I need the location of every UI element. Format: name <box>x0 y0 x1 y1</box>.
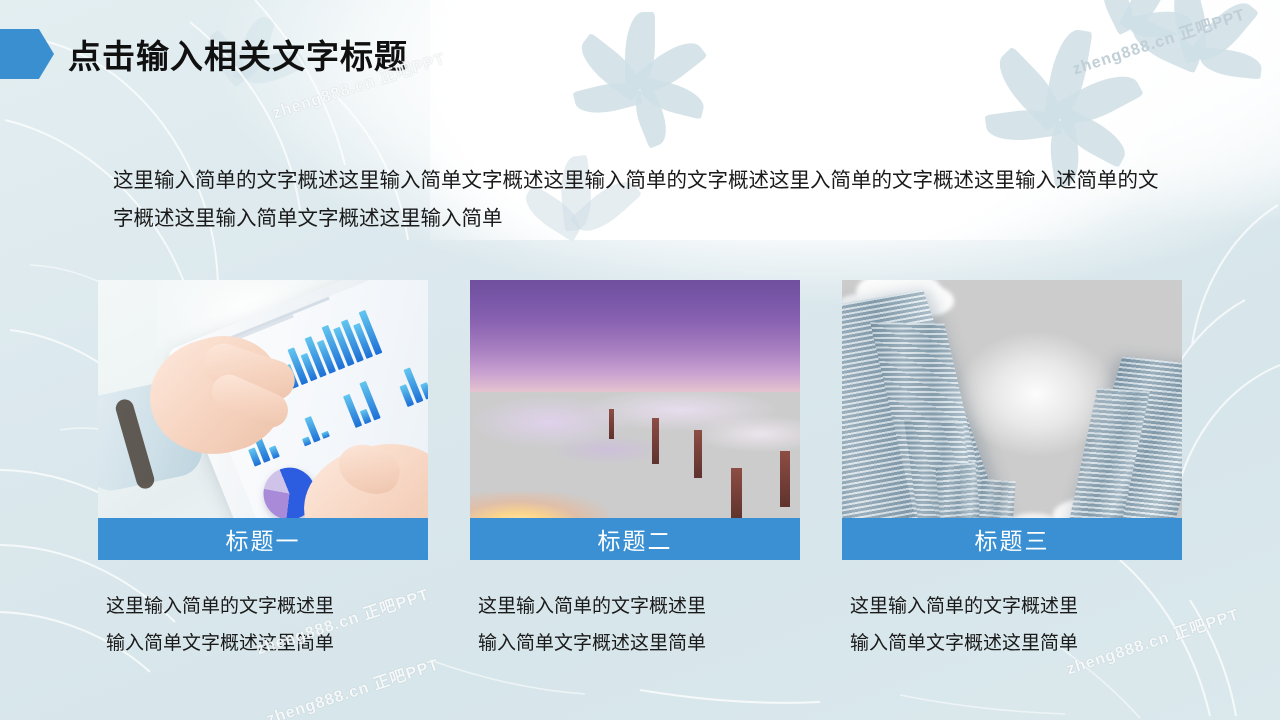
card-caption-line: 这里输入简单的文字概述里 <box>850 588 1182 625</box>
card-image-pier <box>470 280 800 518</box>
card-caption-line: 这里输入简单的文字概述里 <box>106 588 428 625</box>
card-caption-line: 这里输入简单的文字概述里 <box>478 588 800 625</box>
content-card[interactable]: 标题三 这里输入简单的文字概述里 输入简单文字概述这里简单 <box>842 280 1182 662</box>
presentation-slide: 点击输入相关文字标题 这里输入简单的文字概述这里输入简单文字概述这里输入简单的文… <box>0 0 1280 720</box>
card-title: 标题一 <box>98 518 428 560</box>
page-title: 点击输入相关文字标题 <box>68 30 408 78</box>
card-caption-line: 输入简单文字概述这里简单 <box>850 625 1182 662</box>
card-title: 标题三 <box>842 518 1182 560</box>
card-caption: 这里输入简单的文字概述里 输入简单文字概述这里简单 <box>470 588 800 662</box>
chevron-accent-icon <box>0 29 54 79</box>
card-caption: 这里输入简单的文字概述里 输入简单文字概述这里简单 <box>842 588 1182 662</box>
card-row: 标题一 这里输入简单的文字概述里 输入简单文字概述这里简单 <box>98 280 1182 662</box>
content-card[interactable]: 标题一 这里输入简单的文字概述里 输入简单文字概述这里简单 <box>98 280 428 662</box>
card-caption-line: 输入简单文字概述这里简单 <box>106 625 428 662</box>
card-caption: 这里输入简单的文字概述里 输入简单文字概述这里简单 <box>98 588 428 662</box>
card-title: 标题二 <box>470 518 800 560</box>
card-image-tablet <box>98 280 428 518</box>
card-caption-line: 输入简单文字概述这里简单 <box>478 625 800 662</box>
card-image-city <box>842 280 1182 518</box>
content-card[interactable]: 标题二 这里输入简单的文字概述里 输入简单文字概述这里简单 <box>470 280 800 662</box>
intro-paragraph: 这里输入简单的文字概述这里输入简单文字概述这里输入简单的文字概述这里入简单的文字… <box>113 162 1168 238</box>
slide-title-row: 点击输入相关文字标题 <box>0 25 408 83</box>
